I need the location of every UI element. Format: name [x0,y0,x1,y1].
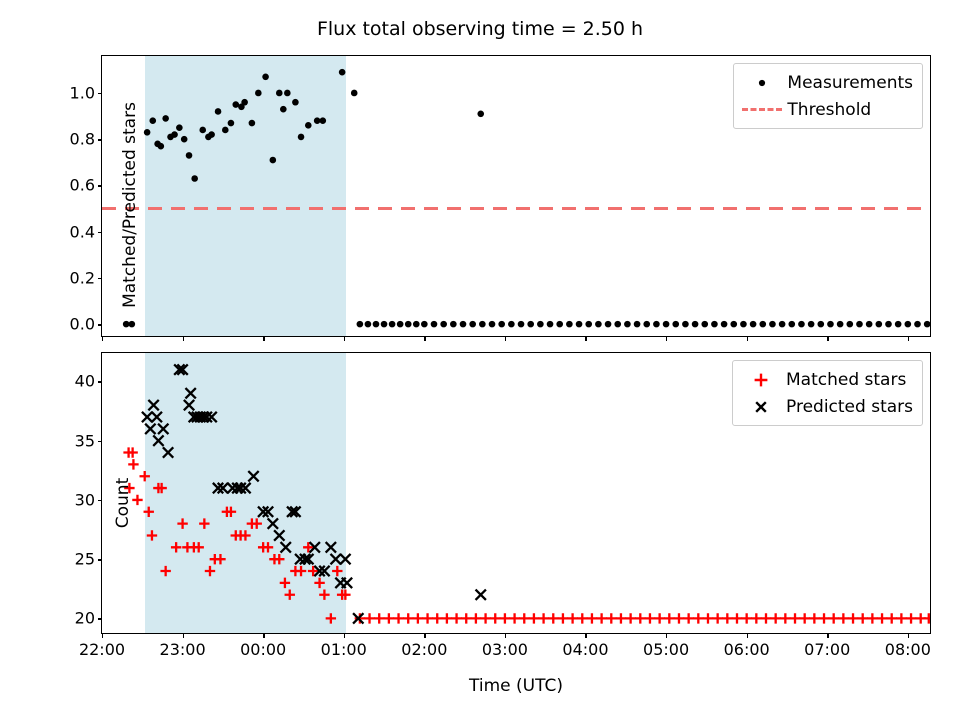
data-point [422,613,432,623]
data-point [722,613,732,623]
data-point [158,424,168,434]
data-point [364,613,374,623]
x-tick-mark [585,633,586,638]
data-point [158,143,165,150]
data-point [215,554,225,564]
data-point [614,321,621,328]
data-point [177,518,187,528]
data-point [721,321,728,328]
data-point [518,321,525,328]
data-point [222,127,229,134]
data-point [779,321,786,328]
data-point [529,613,539,623]
data-point [799,613,809,623]
y-axis-label-bottom: Count [113,433,133,573]
data-point [142,412,152,422]
data-point [149,117,156,124]
x-tick-mark [102,336,103,341]
data-point [732,613,742,623]
data-point [876,321,883,328]
data-point [340,554,350,564]
chart-panel-top: 0.00.20.40.60.81.0 Matched/Predicted sta… [101,55,931,337]
y-tick-label: 0.6 [70,176,95,195]
y-tick-label: 30 [75,490,95,509]
data-point [262,74,269,81]
data-point [663,321,670,328]
x-tick-mark [183,633,184,638]
data-point [498,321,505,328]
data-point [193,542,203,552]
plus-marker-icon [740,372,782,388]
data-point [595,321,602,328]
data-point [351,90,358,97]
data-point [215,108,222,115]
data-point [490,613,500,623]
data-point [460,321,467,328]
data-point [664,613,674,623]
data-point [373,321,380,328]
data-point [906,613,916,623]
y-tick-mark [98,500,103,501]
data-point [509,613,519,623]
data-point [171,542,181,552]
data-point [856,321,863,328]
y-tick-label: 25 [75,550,95,569]
data-point [205,566,215,576]
y-tick-mark [98,381,103,382]
data-point [176,124,183,131]
data-point [252,518,262,528]
figure-canvas: Flux total observing time = 2.50 h 0.00.… [0,0,960,720]
data-point [263,542,273,552]
x-tick-mark [666,336,667,341]
data-point [249,120,256,127]
data-point [624,321,631,328]
data-point [357,321,364,328]
y-tick-mark [98,618,103,619]
x-tick-mark [424,336,425,341]
data-point [780,613,790,623]
y-tick-label: 0.4 [70,222,95,241]
data-point [184,400,194,410]
legend-item-measurements[interactable]: Measurements [741,69,913,96]
data-point [319,117,326,124]
data-point [788,321,795,328]
data-point [393,613,403,623]
data-point [924,613,930,623]
data-point [558,613,568,623]
data-point [761,613,771,623]
data-point [740,321,747,328]
data-point [332,566,342,576]
x-tick-label: 04:00 [562,640,608,659]
x-tick-label: 08:00 [885,640,931,659]
data-point [255,90,262,97]
data-point [645,613,655,623]
data-point [914,321,921,328]
x-tick-mark [585,336,586,341]
series-predicted-stars [142,364,486,623]
data-point [208,131,215,138]
y-tick-label: 0.8 [70,130,95,149]
data-point [171,131,178,138]
data-point [381,321,388,328]
y-tick-mark [98,232,103,233]
data-point [461,613,471,623]
y-tick-label: 0.0 [70,315,95,334]
x-tick-mark [263,633,264,638]
data-point [469,321,476,328]
y-tick-mark [98,93,103,94]
data-point [298,134,305,141]
data-point [431,321,438,328]
data-point [405,321,412,328]
data-point [270,157,277,164]
x-tick-label: 05:00 [643,640,689,659]
data-point [451,613,461,623]
legend-label-predicted-stars: Predicted stars [782,397,913,417]
y-tick-label: 0.2 [70,268,95,287]
y-tick-label: 20 [75,609,95,628]
data-point [605,321,612,328]
dashed-line-icon [741,108,783,111]
data-point [759,321,766,328]
data-point [548,613,558,623]
data-point [330,554,340,564]
data-point [556,321,563,328]
y-axis-label-top: Matched/Predicted stars [120,85,140,325]
data-point [703,613,713,623]
data-point [285,590,295,600]
data-point [625,613,635,623]
data-point [741,613,751,623]
data-point [319,590,329,600]
x-tick-mark [424,633,425,638]
data-point [819,613,829,623]
data-point [654,613,664,623]
x-tick-mark [747,633,748,638]
x-tick-label: 03:00 [482,640,528,659]
y-tick-mark [98,559,103,560]
series-matched-stars [123,447,930,623]
cross-marker-icon [740,399,782,415]
data-point [711,321,718,328]
data-point [924,321,930,328]
data-point [365,321,372,328]
data-point [808,321,815,328]
data-point [817,321,824,328]
data-point [479,321,486,328]
data-point [847,321,854,328]
data-point [440,321,447,328]
x-tick-mark [183,336,184,341]
x-tick-mark [747,336,748,341]
x-tick-mark [827,633,828,638]
data-point [132,495,142,505]
data-point [867,613,877,623]
data-point [397,321,404,328]
data-point [450,321,457,328]
data-point [838,613,848,623]
data-point [145,424,155,434]
y-tick-label: 35 [75,431,95,450]
data-point [537,321,544,328]
circle-marker-icon [741,76,783,90]
data-point [148,400,158,410]
x-tick-mark [102,633,103,638]
data-point [314,117,321,124]
data-point [432,613,442,623]
y-tick-mark [98,324,103,325]
data-point [848,613,858,623]
data-point [471,613,481,623]
data-point [606,613,616,623]
data-point [342,578,352,588]
data-point [827,321,834,328]
data-point [857,613,867,623]
data-point [339,69,346,76]
data-point [692,321,699,328]
data-point [643,321,650,328]
x-tick-mark [827,336,828,341]
x-tick-mark [505,633,506,638]
data-point [281,542,291,552]
data-point [284,90,291,97]
data-point [240,530,250,540]
data-point [672,321,679,328]
data-point [751,613,761,623]
data-point [577,613,587,623]
data-point [587,613,597,623]
y-tick-label: 1.0 [70,83,95,102]
data-point [866,321,873,328]
data-point [508,321,515,328]
data-point [152,412,162,422]
data-point [476,590,486,600]
data-point [877,613,887,623]
data-point [147,530,157,540]
data-point [274,530,284,540]
data-point [326,613,336,623]
data-point [585,321,592,328]
data-point [527,321,534,328]
x-tick-label: 23:00 [160,640,206,659]
x-tick-mark [344,633,345,638]
data-point [228,120,235,127]
data-point [770,613,780,623]
legend-item-threshold[interactable]: Threshold [741,96,913,123]
data-point [413,613,423,623]
data-point [442,613,452,623]
data-point [480,613,490,623]
data-point [634,321,641,328]
data-point [162,115,169,122]
data-point [674,613,684,623]
data-point [274,554,284,564]
data-point [701,321,708,328]
data-point [885,321,892,328]
y-tick-label: 40 [75,372,95,391]
data-point [798,321,805,328]
x-tick-mark [263,336,264,341]
data-point [887,613,897,623]
data-point [144,507,154,517]
y-tick-mark [98,441,103,442]
data-point [421,321,428,328]
legend-item-predicted-stars[interactable]: Predicted stars [740,393,913,420]
data-point [232,101,239,108]
data-point [191,175,198,182]
data-point [682,321,689,328]
data-point [653,321,660,328]
x-tick-label: 06:00 [724,640,770,659]
data-point [374,613,384,623]
data-point [790,613,800,623]
data-point [153,435,163,445]
x-tick-label: 00:00 [240,640,286,659]
data-point [809,613,819,623]
data-point [567,613,577,623]
data-point [769,321,776,328]
data-point [185,388,195,398]
data-point [389,321,396,328]
data-point [905,321,912,328]
data-point [730,321,737,328]
data-point [326,542,336,552]
data-point [683,613,693,623]
data-point [712,613,722,623]
data-point [616,613,626,623]
legend-label-matched-stars: Matched stars [782,370,906,390]
page-title: Flux total observing time = 2.50 h [0,18,960,40]
data-point [413,321,420,328]
legend-top: Measurements Threshold [733,63,923,129]
data-point [163,447,173,457]
data-point [181,136,188,143]
x-tick-mark [908,336,909,341]
data-point [384,613,394,623]
x-tick-mark [666,633,667,638]
data-point [160,566,170,576]
data-point [199,127,206,134]
x-tick-label: 01:00 [321,640,367,659]
data-point [896,613,906,623]
x-axis-label: Time (UTC) [101,676,931,696]
x-tick-mark [505,336,506,341]
x-tick-mark [344,336,345,341]
data-point [828,613,838,623]
data-point [292,99,299,106]
data-point [403,613,413,623]
legend-label-threshold: Threshold [783,100,871,120]
data-point [280,578,290,588]
data-point [547,321,554,328]
data-point [576,321,583,328]
y-tick-mark [98,185,103,186]
data-point [140,471,150,481]
data-point [500,613,510,623]
data-point [477,110,484,117]
data-point [895,321,902,328]
data-point [186,152,193,159]
data-point [837,321,844,328]
y-tick-mark [98,139,103,140]
x-tick-label: 07:00 [804,640,850,659]
data-point [268,518,278,528]
data-point [280,106,287,113]
y-tick-mark [98,278,103,279]
legend-bottom: Matched stars Predicted stars [732,360,923,426]
data-point [248,471,258,481]
data-point [635,613,645,623]
data-point [314,578,324,588]
data-point [519,613,529,623]
data-point [296,566,306,576]
data-point [489,321,496,328]
legend-label-measurements: Measurements [783,73,913,93]
x-tick-label: 22:00 [79,640,125,659]
data-point [144,129,151,136]
chart-panel-bottom: 2025303540 22:0023:0000:0001:0002:0003:0… [101,352,931,634]
data-point [750,321,757,328]
data-point [538,613,548,623]
data-point [276,90,283,97]
legend-item-matched-stars[interactable]: Matched stars [740,366,913,393]
data-point [241,99,248,106]
data-point [693,613,703,623]
x-tick-mark [908,633,909,638]
data-point [566,321,573,328]
data-point [596,613,606,623]
data-point [305,122,312,129]
x-tick-label: 02:00 [401,640,447,659]
data-point [199,518,209,528]
